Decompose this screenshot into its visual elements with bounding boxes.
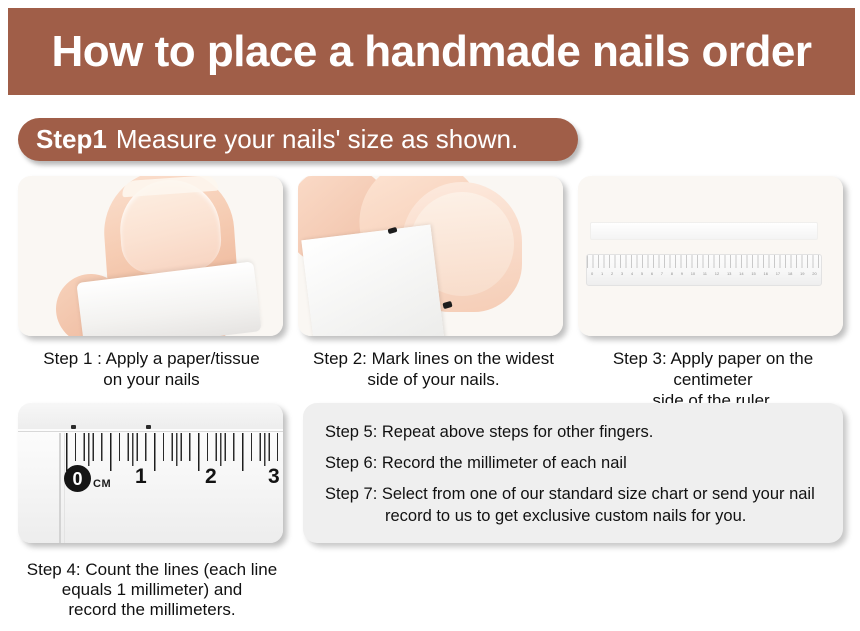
caption-line: on your nails bbox=[14, 369, 289, 390]
ruler-ticks bbox=[587, 255, 821, 268]
ruler-number: 7 bbox=[661, 268, 663, 280]
ruler-number: 10 bbox=[691, 268, 695, 280]
ruler-number: 17 bbox=[776, 268, 780, 280]
ruler-mark-2: 2 bbox=[205, 465, 217, 489]
step1-instruction: Measure your nails' size as shown. bbox=[116, 124, 518, 155]
ruler-number: 9 bbox=[681, 268, 683, 280]
ruler-number: 14 bbox=[739, 268, 743, 280]
steps-5-7-box: Step 5: Repeat above steps for other fin… bbox=[303, 403, 843, 543]
step1-label: Step1 bbox=[36, 124, 107, 155]
ruler-mark-1: 1 bbox=[135, 465, 147, 489]
ruler-illustration: 0 1 2 3 4 5 6 7 8 9 10 11 12 13 14 15 16 bbox=[586, 254, 822, 286]
ruler-number: 15 bbox=[751, 268, 755, 280]
caption-step3: Step 3: Apply paper on the centimeter si… bbox=[572, 348, 854, 411]
header-banner: How to place a handmade nails order bbox=[8, 8, 855, 95]
ruler-number: 4 bbox=[631, 268, 633, 280]
ruler-number: 20 bbox=[812, 268, 816, 280]
ruler-number: 6 bbox=[651, 268, 653, 280]
photo-card-step1 bbox=[18, 176, 283, 336]
ruler-numbers: 0 1 2 3 4 5 6 7 8 9 10 11 12 13 14 15 16 bbox=[587, 268, 821, 280]
photo-card-step2 bbox=[298, 176, 563, 336]
caption-step2: Step 2: Mark lines on the widest side of… bbox=[296, 348, 571, 390]
infographic-page: How to place a handmade nails order Step… bbox=[0, 0, 860, 631]
caption-line: Step 4: Count the lines (each line bbox=[8, 560, 296, 580]
step-6-line: Step 6: Record the millimeter of each na… bbox=[325, 452, 821, 474]
ruler-centimeter-ticks bbox=[66, 433, 278, 471]
caption-line: side of your nails. bbox=[296, 369, 571, 390]
paper-strip-illustration bbox=[590, 222, 818, 240]
ruler-left-edge-inner bbox=[64, 433, 65, 543]
caption-step4: Step 4: Count the lines (each line equal… bbox=[8, 560, 296, 620]
caption-line: Step 2: Mark lines on the widest bbox=[296, 348, 571, 369]
caption-line: Step 1 : Apply a paper/tissue bbox=[14, 348, 289, 369]
photo-card-step3: 0 1 2 3 4 5 6 7 8 9 10 11 12 13 14 15 16 bbox=[578, 176, 843, 336]
ruler-number: 5 bbox=[641, 268, 643, 280]
step-7-text: Step 7: Select from one of our standard … bbox=[325, 485, 815, 503]
ruler-zero-marker: 0 bbox=[64, 465, 91, 492]
ruler-number: 11 bbox=[703, 268, 707, 280]
step-7-text-continued: record to us to get exclusive custom nai… bbox=[325, 505, 821, 527]
ruler-number: 16 bbox=[764, 268, 768, 280]
pencil-mark-2 bbox=[146, 425, 151, 429]
step-5-text: Step 5: Repeat above steps for other fin… bbox=[325, 423, 653, 441]
caption-line: record the millimeters. bbox=[8, 600, 296, 620]
caption-step1: Step 1 : Apply a paper/tissue on your na… bbox=[14, 348, 289, 390]
photo-card-row: 0 1 2 3 4 5 6 7 8 9 10 11 12 13 14 15 16 bbox=[0, 176, 860, 338]
ruler-number: 18 bbox=[788, 268, 792, 280]
ruler-zero-label: 0 bbox=[72, 470, 82, 488]
ruler-number: 12 bbox=[715, 268, 719, 280]
ruler-number: 1 bbox=[601, 268, 603, 280]
ruler-unit-label: CM bbox=[93, 478, 111, 490]
step-7-line: Step 7: Select from one of our standard … bbox=[325, 483, 821, 527]
ruler-top-edge bbox=[18, 431, 283, 432]
photo-card-step4: 0 CM 1 2 3 bbox=[18, 403, 283, 543]
ruler-number: 13 bbox=[727, 268, 731, 280]
ruler-number: 3 bbox=[621, 268, 623, 280]
page-title: How to place a handmade nails order bbox=[51, 30, 811, 74]
step-5-line: Step 5: Repeat above steps for other fin… bbox=[325, 421, 821, 443]
step1-banner: Step1 Measure your nails' size as shown. bbox=[18, 118, 578, 161]
pencil-mark-1 bbox=[71, 425, 76, 429]
caption-line: equals 1 millimeter) and bbox=[8, 580, 296, 600]
step-6-text: Step 6: Record the millimeter of each na… bbox=[325, 454, 627, 472]
ruler-number: 2 bbox=[611, 268, 613, 280]
ruler-number: 8 bbox=[671, 268, 673, 280]
ruler-mark-3: 3 bbox=[268, 465, 280, 489]
ruler-number: 19 bbox=[800, 268, 804, 280]
caption-line: Step 3: Apply paper on the centimeter bbox=[572, 348, 854, 390]
ruler-left-edge bbox=[59, 433, 61, 543]
ruler-number: 0 bbox=[591, 268, 593, 280]
paper-strip-illustration bbox=[301, 225, 444, 336]
